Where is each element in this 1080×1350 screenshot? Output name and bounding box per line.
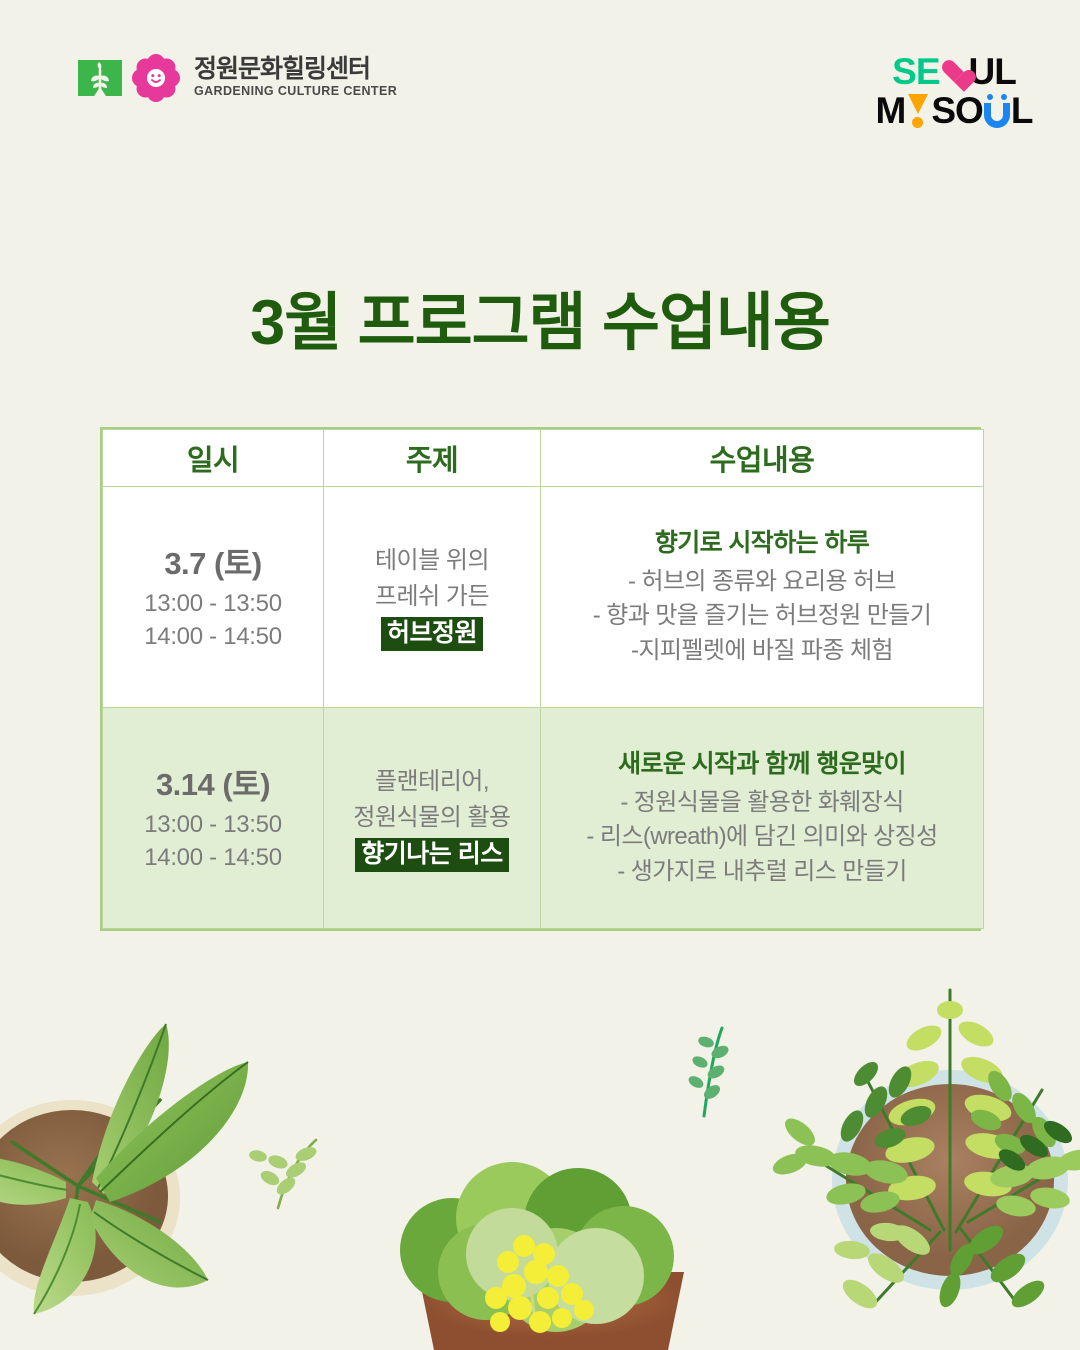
schedule-content-cell: 새로운 시작과 함께 행운맞이 - 정원식물을 활용한 화훼장식 - 리스(wr… bbox=[541, 708, 984, 929]
program-schedule-table: 일시 주제 수업내용 3.7 (토) 13:00 - 13:50 14:00 -… bbox=[100, 427, 981, 931]
seoul-my-soul-logo: SE UL M SO L bbox=[890, 48, 1018, 134]
seoul-logo-line2: M SO L bbox=[876, 92, 1033, 129]
schedule-date: 3.7 (토) bbox=[109, 541, 317, 588]
potted-yellow-flower-bush-illustration bbox=[400, 1028, 730, 1350]
column-header-topic: 주제 bbox=[324, 430, 541, 487]
schedule-date-cell: 3.7 (토) 13:00 - 13:50 14:00 - 14:50 bbox=[103, 487, 324, 708]
small-sprig-illustration bbox=[248, 1140, 318, 1208]
topic-highlight-badge: 향기나는 리스 bbox=[355, 838, 508, 872]
schedule-time-1: 13:00 - 13:50 bbox=[109, 587, 317, 620]
topic-line-1: 플랜테리어, bbox=[330, 764, 534, 800]
schedule-date-cell: 3.14 (토) 13:00 - 13:50 14:00 - 14:50 bbox=[103, 708, 324, 929]
content-title: 향기로 시작하는 하루 bbox=[547, 525, 977, 563]
schedule-date: 3.14 (토) bbox=[109, 762, 317, 809]
content-line-3: -지피펠렛에 바질 파종 체험 bbox=[547, 634, 977, 669]
topic-line-2: 프레쉬 가든 bbox=[330, 579, 534, 615]
content-line-2: - 향과 맛을 즐기는 허브정원 만들기 bbox=[547, 599, 977, 634]
content-line-1: - 허브의 종류와 요리용 허브 bbox=[547, 565, 977, 600]
seoul-logo-ul: UL bbox=[969, 53, 1016, 90]
seoul-logo-m: M bbox=[876, 92, 906, 129]
brand-name-kr: 정원문화힐링센터 bbox=[194, 56, 397, 84]
table-header-row: 일시 주제 수업내용 bbox=[103, 430, 984, 487]
brand-name-en: GARDENING CULTURE CENTER bbox=[194, 83, 397, 100]
center-brand-logo: 정원문화힐링센터 GARDENING CULTURE CENTER bbox=[76, 54, 397, 102]
seoul-logo-line1: SE UL bbox=[892, 53, 1016, 90]
small-sprig-illustration bbox=[687, 1028, 731, 1116]
potted-leafy-plant-illustration bbox=[0, 1024, 318, 1314]
seoul-logo-l: L bbox=[1011, 92, 1033, 129]
brand-text: 정원문화힐링센터 GARDENING CULTURE CENTER bbox=[194, 56, 397, 100]
column-header-content: 수업내용 bbox=[541, 430, 984, 487]
column-header-date: 일시 bbox=[103, 430, 324, 487]
table-row: 3.7 (토) 13:00 - 13:50 14:00 - 14:50 테이블 … bbox=[103, 487, 984, 708]
content-line-2: - 리스(wreath)에 담긴 의미와 상징성 bbox=[547, 820, 977, 855]
yellow-flower-cluster bbox=[485, 1235, 594, 1333]
schedule-topic-cell: 테이블 위의 프레쉬 가든 허브정원 bbox=[324, 487, 541, 708]
schedule-topic-cell: 플랜테리어, 정원식물의 활용 향기나는 리스 bbox=[324, 708, 541, 929]
heart-icon bbox=[941, 59, 968, 86]
bottom-illustrations bbox=[0, 950, 1080, 1350]
exclamation-triangle-icon bbox=[907, 94, 929, 128]
topic-line-1: 테이블 위의 bbox=[330, 543, 534, 579]
schedule-time-2: 14:00 - 14:50 bbox=[109, 620, 317, 653]
sprout-mark-icon bbox=[76, 54, 124, 102]
page-title: 3월 프로그램 수업내용 bbox=[0, 272, 1080, 363]
content-title: 새로운 시작과 함께 행운맞이 bbox=[547, 746, 977, 784]
page-header: 정원문화힐링센터 GARDENING CULTURE CENTER SE UL … bbox=[0, 0, 1080, 150]
brand-marks bbox=[76, 54, 180, 102]
potted-fern-plant-illustration bbox=[770, 990, 1080, 1314]
seoul-logo-so: SO bbox=[931, 92, 982, 129]
seoul-logo-se: SE bbox=[892, 53, 939, 90]
content-line-3: - 생가지로 내추럴 리스 만들기 bbox=[547, 855, 977, 890]
schedule-time-1: 13:00 - 13:50 bbox=[109, 808, 317, 841]
smiley-u-icon bbox=[984, 94, 1010, 128]
smiling-flower-icon bbox=[132, 54, 180, 102]
content-line-1: - 정원식물을 활용한 화훼장식 bbox=[547, 786, 977, 821]
table-row: 3.14 (토) 13:00 - 13:50 14:00 - 14:50 플랜테… bbox=[103, 708, 984, 929]
schedule-content-cell: 향기로 시작하는 하루 - 허브의 종류와 요리용 허브 - 향과 맛을 즐기는… bbox=[541, 487, 984, 708]
topic-highlight-badge: 허브정원 bbox=[381, 617, 483, 651]
topic-line-2: 정원식물의 활용 bbox=[330, 800, 534, 836]
schedule-time-2: 14:00 - 14:50 bbox=[109, 841, 317, 874]
